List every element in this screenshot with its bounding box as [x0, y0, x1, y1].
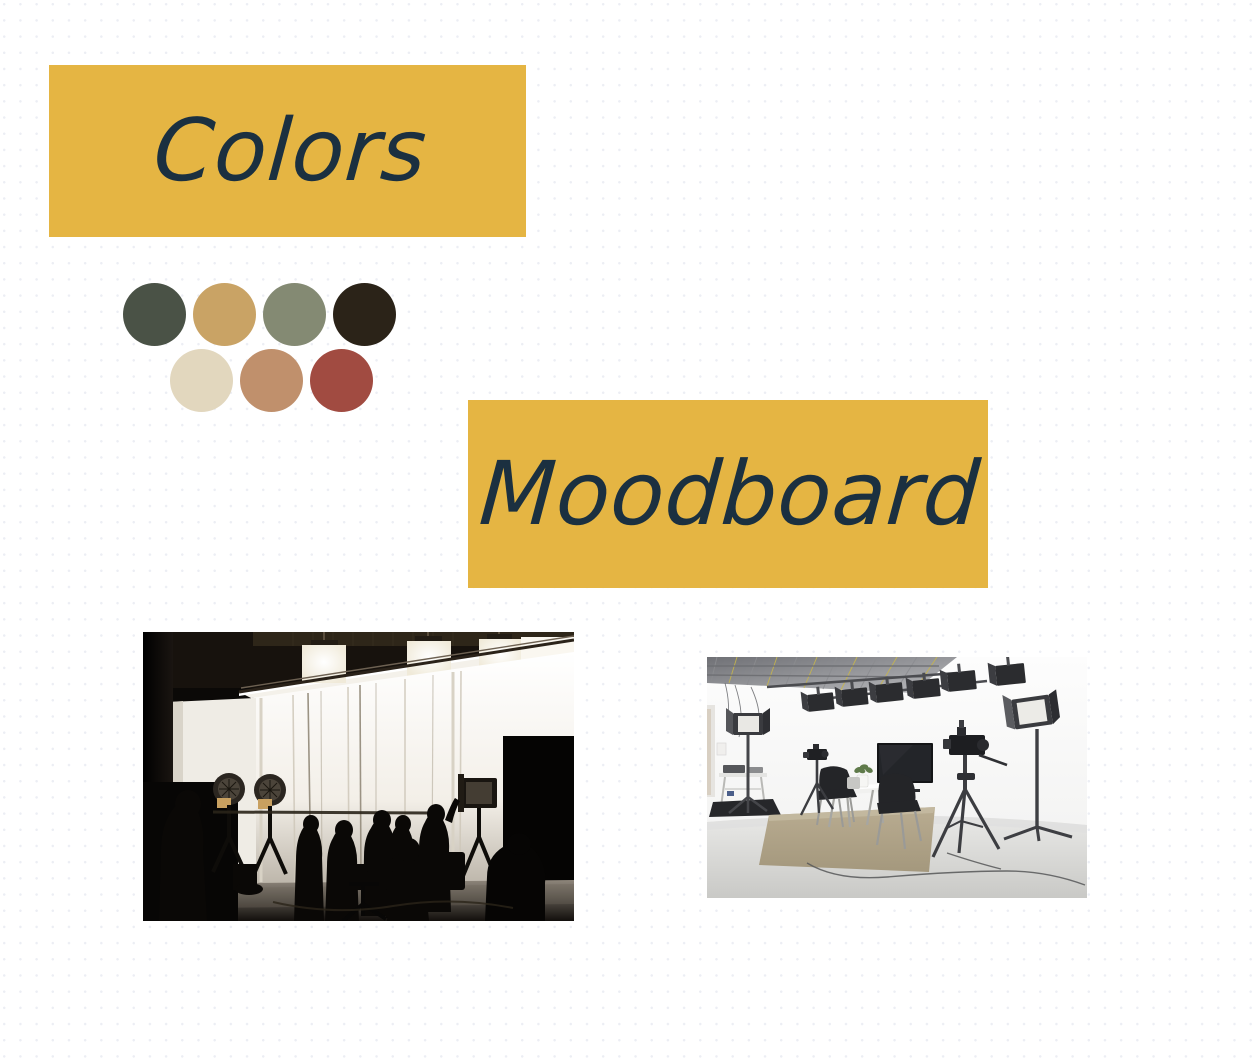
palette-row-bottom: [170, 349, 395, 412]
color-swatch-cream-beige[interactable]: [170, 349, 233, 412]
color-swatch-sage-green[interactable]: [263, 283, 326, 346]
interview-studio-illustration: [707, 657, 1087, 898]
moodboard-slide: Colors Moodboard: [0, 0, 1258, 1062]
photo-white-interview-studio[interactable]: [707, 657, 1087, 898]
color-swatch-dark-olive-green[interactable]: [123, 283, 186, 346]
color-swatch-brick-red[interactable]: [310, 349, 373, 412]
color-swatch-khaki-gold[interactable]: [193, 283, 256, 346]
color-swatch-terracotta-tan[interactable]: [240, 349, 303, 412]
color-swatch-dark-espresso-brown[interactable]: [333, 283, 396, 346]
film-set-illustration: [143, 632, 574, 921]
moodboard-title-banner: Moodboard: [468, 400, 988, 588]
colors-title-text: Colors: [151, 108, 429, 194]
photo-film-set-silhouettes[interactable]: [143, 632, 574, 921]
moodboard-title-text: Moodboard: [477, 450, 983, 538]
palette-row-top: [123, 283, 395, 346]
color-palette: [123, 283, 395, 416]
colors-title-banner: Colors: [49, 65, 526, 237]
